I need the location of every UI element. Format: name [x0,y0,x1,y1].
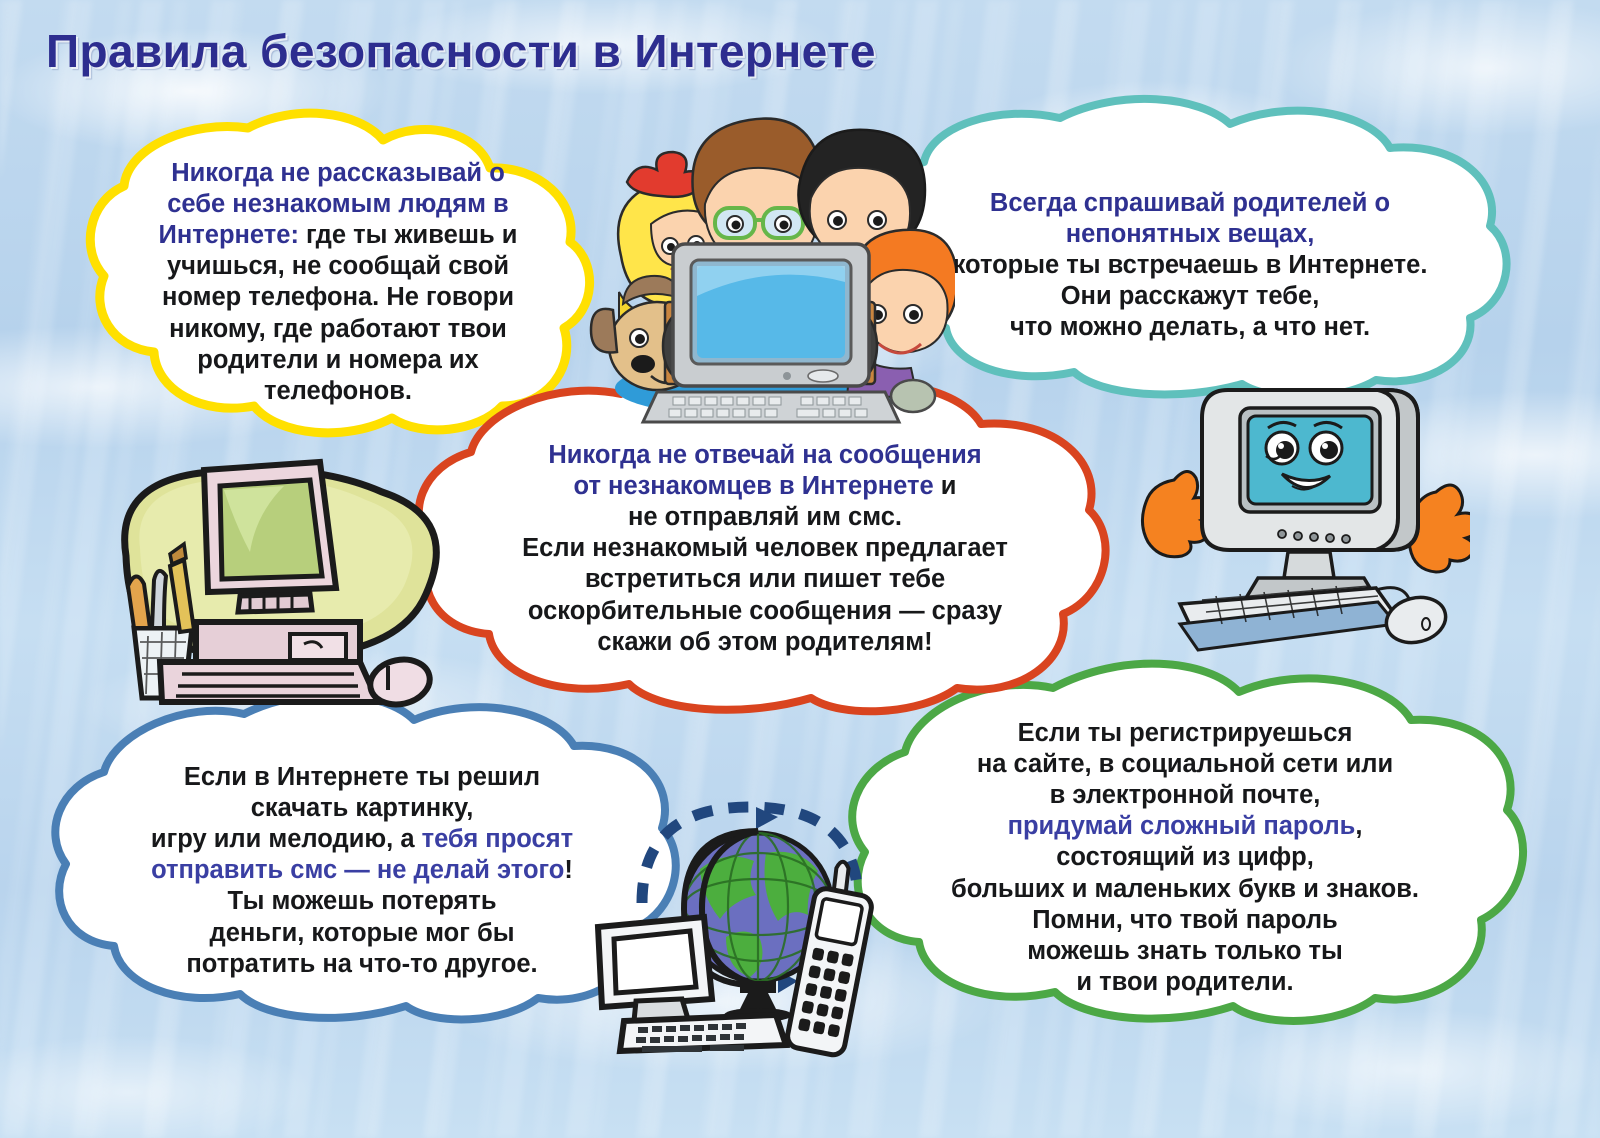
keyboard [1180,586,1396,650]
computer-mouse [366,654,434,710]
happy-computer-graphic [1140,362,1470,672]
crt-monitor [204,462,336,612]
crt-monitor [673,244,869,386]
cloud-strangers-messages-text: Никогда не отвечай на сообщения от незна… [459,440,1071,658]
desk-computer-illustration [100,444,440,724]
monitor-stand [1284,552,1334,578]
computer-mouse [1382,591,1451,648]
kids-at-computer-illustration [565,96,955,426]
smiling-computer-illustration [1140,362,1470,672]
computer-face-screen [1248,416,1372,504]
desk-computer-graphic [100,444,440,724]
cloud-downloads-sms-text: Если в Интернете ты решил скачать картин… [92,762,632,980]
globe-devices-illustration [580,775,900,1065]
poster-canvas: Правила безопасности в Интернете Никогда… [0,0,1600,1138]
cloud-downloads-sms: Если в Интернете ты решил скачать картин… [62,690,662,1035]
cloud-ask-parents-text: Всегда спрашивай родителей о непонятных … [906,188,1474,344]
cloud-ask-parents: Всегда спрашивай родителей о непонятных … [870,96,1510,396]
globe-devices-graphic [580,775,900,1065]
cloud-password-text: Если ты регистрируешься на сайте, в соци… [889,718,1481,998]
keyboard [160,662,378,702]
kids-computer-graphic [565,96,955,426]
page-title: Правила безопасности в Интернете [46,24,876,78]
